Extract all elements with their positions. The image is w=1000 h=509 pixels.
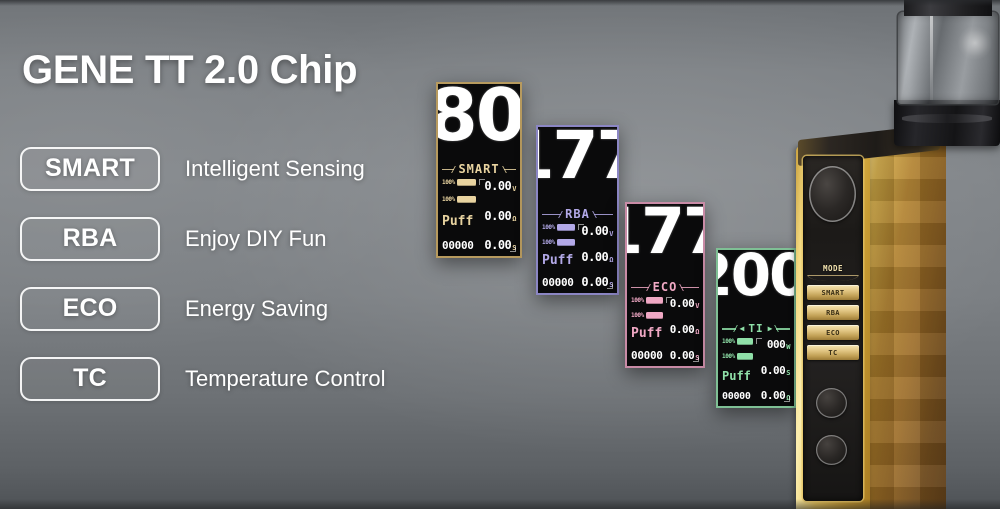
- mode-divider-right: [681, 284, 699, 291]
- feature-desc-eco: Energy Saving: [185, 296, 328, 322]
- screen-mode-label: RBA: [565, 207, 590, 221]
- battery-right-percent: 100%: [722, 353, 735, 360]
- mode-divider-left: [542, 211, 561, 218]
- mode-divider-left: [442, 166, 454, 173]
- battery-left-percent: 100%: [631, 297, 644, 304]
- feature-badge-rba: RBA: [20, 217, 160, 261]
- feature-badge-smart: SMART: [20, 147, 160, 191]
- battery-right-percent: 100%: [631, 312, 644, 319]
- resistance-value: 0.00: [761, 389, 786, 402]
- wattage-value: 000: [767, 338, 785, 351]
- battery-right-percent: 100%: [442, 196, 455, 203]
- tank-base: [894, 100, 1000, 146]
- device-screen-tc: 200 °F ◀ TI ▶ 100% 100%: [716, 248, 796, 408]
- mode-divider-right: [594, 211, 613, 218]
- seconds-unit: S: [512, 244, 516, 252]
- device-screen-eco: 177 W ECO 100% 100% Puff: [625, 202, 705, 368]
- screen-mode-label: ECO: [653, 280, 678, 294]
- puff-label: Puff: [542, 253, 575, 268]
- battery-left-percent: 100%: [722, 338, 735, 345]
- seconds-unit: S: [786, 369, 790, 377]
- adjust-up-button[interactable]: [816, 388, 847, 418]
- wattage-unit: W: [786, 343, 790, 351]
- feature-row: RBA Enjoy DIY Fun: [20, 215, 450, 262]
- voltage-unit: V: [512, 185, 516, 193]
- seconds-value: 0.00: [484, 238, 511, 252]
- battery-left-bar: [557, 224, 575, 231]
- seconds-unit: S: [609, 281, 613, 289]
- prev-mode-arrow-icon[interactable]: ◀: [740, 324, 745, 333]
- resistance-unit: Ω: [609, 256, 613, 264]
- mode-divider-left: [722, 325, 736, 332]
- feature-desc-rba: Enjoy DIY Fun: [185, 226, 326, 252]
- vape-device-body: MODE SMART RBA ECO TC: [796, 130, 946, 509]
- seconds-value: 0.00: [761, 364, 786, 377]
- seconds-value: 0.00: [581, 275, 608, 289]
- battery-left-bar: [737, 338, 753, 345]
- adjust-down-button[interactable]: [816, 435, 847, 465]
- device-mode-button-tc[interactable]: TC: [807, 345, 859, 360]
- device-side-panel: [868, 138, 946, 509]
- page-title: GENE TT 2.0 Chip: [22, 48, 357, 93]
- battery-left-percent: 100%: [542, 224, 555, 231]
- battery-right-bar: [737, 353, 753, 360]
- next-mode-arrow-icon[interactable]: ▶: [768, 324, 773, 333]
- puff-count: 00000: [542, 276, 575, 289]
- battery-right-percent: 100%: [542, 239, 555, 246]
- battery-left-percent: 100%: [442, 179, 455, 186]
- atomizer-tank: [894, 0, 1000, 154]
- screen-wattage-value: 80: [436, 87, 522, 143]
- device-mode-menu: MODE SMART RBA ECO TC: [805, 264, 861, 365]
- mode-divider-left: [631, 284, 649, 291]
- screen-mode-label: TI: [748, 322, 763, 335]
- puff-count: 00000: [722, 391, 753, 402]
- device-mode-button-rba[interactable]: RBA: [807, 305, 859, 320]
- tank-top-cap: [904, 0, 992, 16]
- device-mode-button-smart[interactable]: SMART: [807, 285, 859, 300]
- voltage-unit: V: [609, 230, 613, 238]
- battery-right-bar: [646, 312, 663, 319]
- resistance-unit: Ω: [695, 328, 699, 336]
- resistance-unit: Ω: [512, 215, 516, 223]
- feature-list: SMART Intelligent Sensing RBA Enjoy DIY …: [20, 145, 450, 425]
- tank-glass: [898, 12, 998, 104]
- screen-temperature-value: 200: [716, 253, 796, 298]
- battery-left-bar: [646, 297, 663, 304]
- resistance-value: 0.00: [581, 250, 608, 264]
- voltage-value: 0.00: [484, 179, 511, 193]
- resistance-value: 0.00: [670, 323, 695, 336]
- device-mode-button-eco[interactable]: ECO: [807, 325, 859, 340]
- screen-wattage-value: 177: [536, 130, 619, 181]
- mode-menu-header: MODE: [805, 264, 861, 273]
- screen-mode-label: SMART: [458, 162, 499, 176]
- seconds-value: 0.00: [670, 349, 695, 362]
- feature-row: TC Temperature Control: [20, 355, 450, 402]
- tank-logo-icon: [958, 26, 992, 60]
- puff-label: Puff: [442, 214, 476, 229]
- resistance-unit: Ω: [786, 394, 790, 402]
- voltage-unit: V: [695, 302, 699, 310]
- voltage-value: 0.00: [670, 297, 695, 310]
- puff-count: 00000: [631, 349, 663, 362]
- feature-badge-tc: TC: [20, 357, 160, 401]
- mode-menu-divider: [807, 275, 859, 281]
- battery-right-bar: [557, 239, 575, 246]
- screen-wattage-value: 177: [625, 207, 705, 256]
- feature-desc-tc: Temperature Control: [185, 366, 386, 392]
- feature-desc-smart: Intelligent Sensing: [185, 156, 365, 182]
- mode-divider-right: [504, 166, 516, 173]
- puff-label: Puff: [631, 326, 663, 341]
- seconds-unit: S: [695, 354, 699, 362]
- fire-button[interactable]: [809, 166, 856, 222]
- puff-label: Puff: [722, 369, 753, 383]
- device-screen-rba: 177 W RBA 100% 100% Puff: [536, 125, 619, 295]
- feature-row: ECO Energy Saving: [20, 285, 450, 332]
- battery-right-bar: [457, 196, 476, 203]
- feature-row: SMART Intelligent Sensing: [20, 145, 450, 192]
- voltage-value: 0.00: [581, 224, 608, 238]
- resistance-value: 0.00: [484, 209, 511, 223]
- mode-divider-right: [776, 325, 790, 332]
- feature-badge-eco: ECO: [20, 287, 160, 331]
- battery-left-bar: [457, 179, 476, 186]
- product-marketing-banner: GENE TT 2.0 Chip SMART Intelligent Sensi…: [0, 0, 1000, 509]
- device-screen-smart: 80 W SMART 100% 100% Puff: [436, 82, 522, 258]
- puff-count: 00000: [442, 239, 476, 252]
